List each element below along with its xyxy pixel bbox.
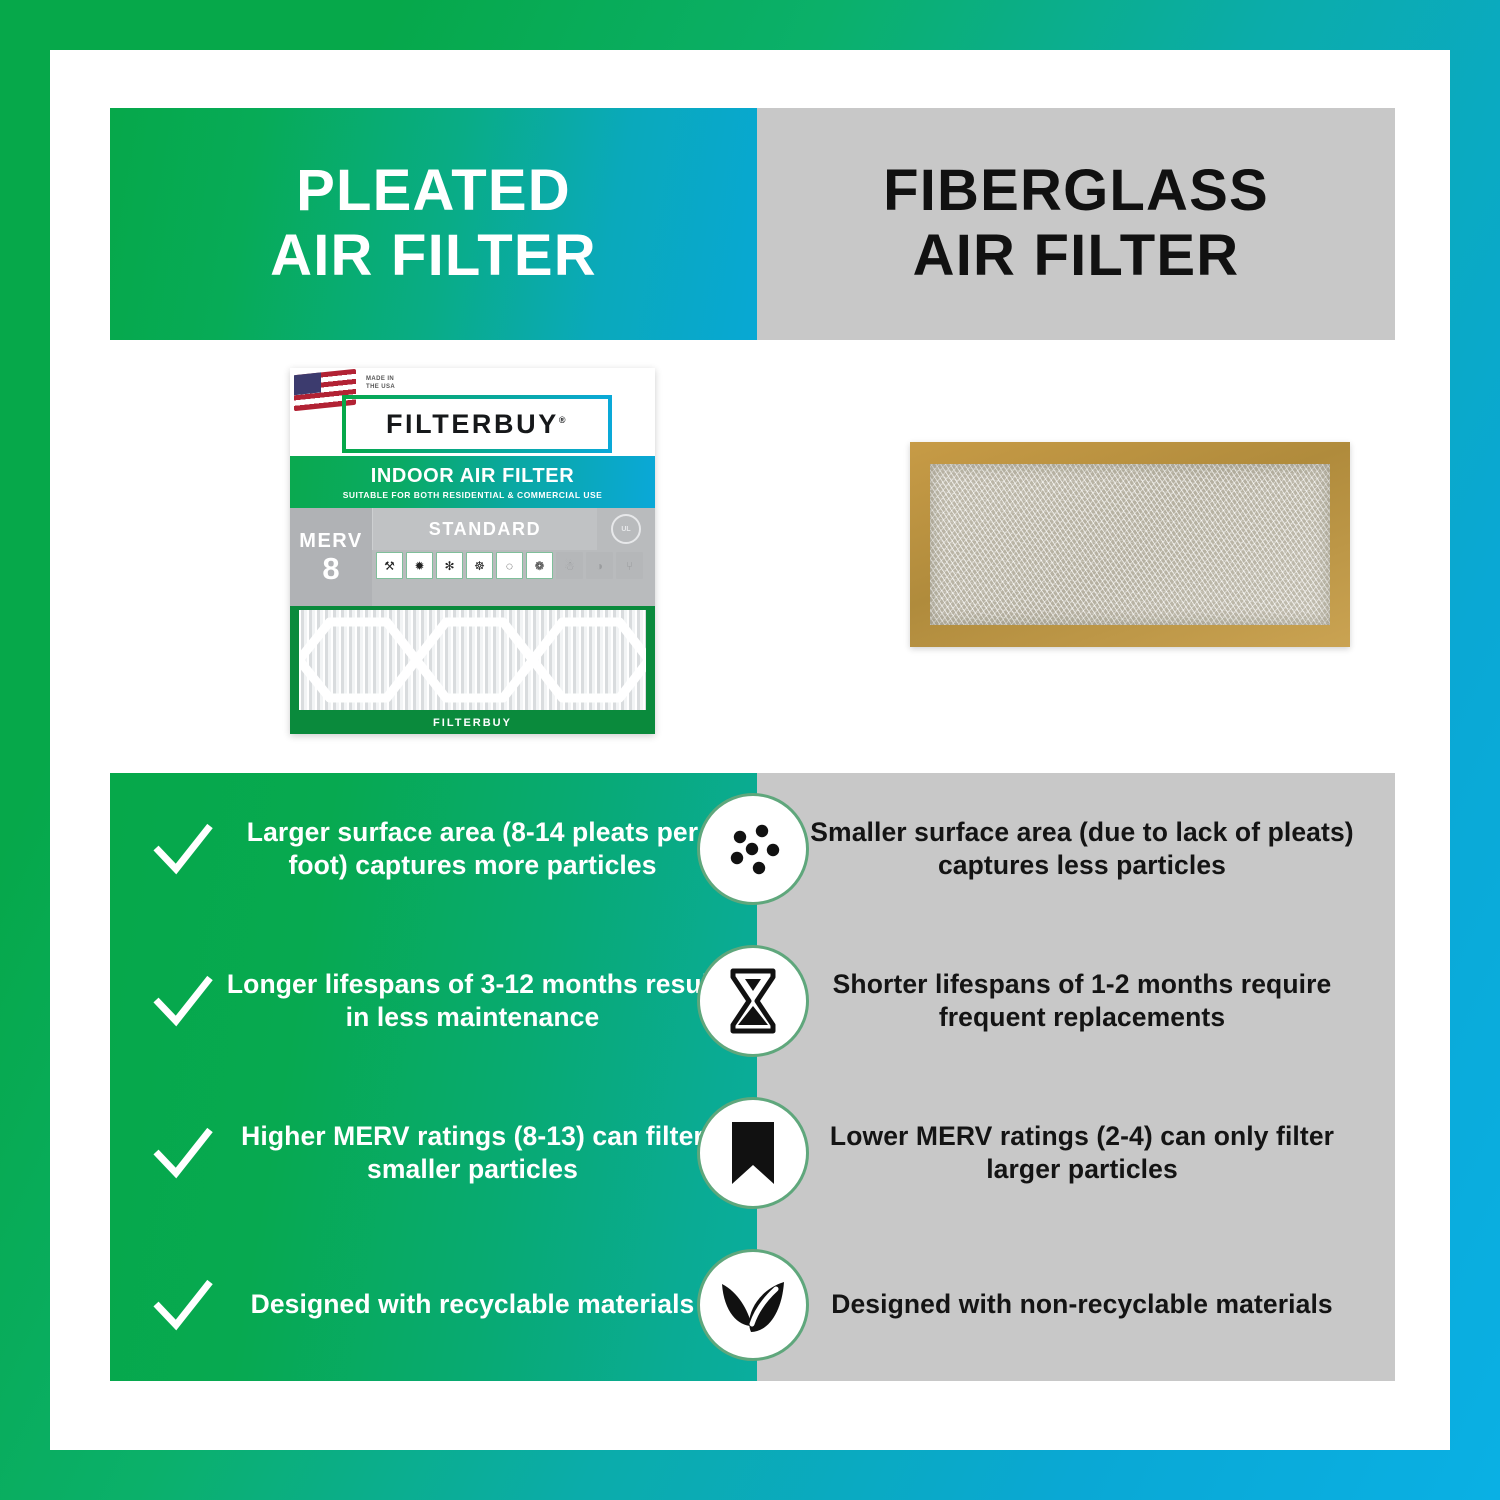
band-title: INDOOR AIR FILTER xyxy=(371,465,575,488)
comparison-row: Higher MERV ratings (8-13) can filter sm… xyxy=(110,1077,757,1229)
check-icon xyxy=(144,821,222,877)
capability-icon-disabled: ☃ xyxy=(556,552,583,579)
filterbuy-footer-brand: FILTERBUY xyxy=(290,712,655,734)
pleated-media-window: FILTERBUY xyxy=(290,606,655,734)
header-fiberglass: FIBERGLASS AIR FILTER xyxy=(757,108,1395,340)
check-icon xyxy=(144,1125,222,1181)
header-fiberglass-line2: AIR FILTER xyxy=(913,223,1240,288)
infographic-frame: PLEATED AIR FILTER FIBERGLASS AIR FILTER… xyxy=(0,0,1500,1500)
capability-icon-disabled: ⑂ xyxy=(616,552,643,579)
filterbuy-spec-panel: MERV 8 STANDARD UL ⚒ ✹ ✻ ☸ ◌ ❁ ☃ xyxy=(290,508,655,606)
comparison-text-fiberglass: Lower MERV ratings (2-4) can only filter… xyxy=(809,1120,1355,1187)
made-in-usa-label: MADE IN THE USA xyxy=(366,375,395,391)
capability-icon: ☸ xyxy=(466,552,493,579)
filter-capability-icons: ⚒ ✹ ✻ ☸ ◌ ❁ ☃ ◑ ⑂ xyxy=(376,552,651,604)
header-fiberglass-line1: FIBERGLASS xyxy=(883,158,1269,223)
comparison-text-fiberglass: Designed with non-recyclable materials xyxy=(831,1288,1333,1321)
comparison-row: Larger surface area (8-14 pleats per foo… xyxy=(110,773,757,925)
filterbuy-wordmark: FILTERBUY® xyxy=(386,409,568,440)
capability-icon: ◌ xyxy=(496,552,523,579)
comparison-text-pleated: Longer lifespans of 3-12 months result i… xyxy=(222,968,723,1035)
comparison-text-pleated: Designed with recyclable materials xyxy=(222,1288,723,1321)
ul-label: UL xyxy=(611,514,641,544)
pleated-filter-product-image: MADE IN THE USA FILTERBUY® INDOOR AIR FI… xyxy=(290,368,655,734)
ul-certification-mark: UL xyxy=(597,508,655,550)
header-pleated-line2: AIR FILTER xyxy=(270,223,597,288)
filterbuy-logo: FILTERBUY® xyxy=(342,395,612,453)
merv-badge: MERV 8 xyxy=(290,508,372,606)
check-icon xyxy=(144,973,222,1029)
comparison-row: Longer lifespans of 3-12 months result i… xyxy=(110,925,757,1077)
comparison-text-pleated: Higher MERV ratings (8-13) can filter sm… xyxy=(222,1120,723,1187)
comparison-text-pleated: Larger surface area (8-14 pleats per foo… xyxy=(222,816,723,883)
comparison-row: Shorter lifespans of 1-2 months require … xyxy=(757,925,1395,1077)
comparison-row: Designed with recyclable materials xyxy=(110,1229,757,1381)
header-row: PLEATED AIR FILTER FIBERGLASS AIR FILTER xyxy=(110,108,1395,340)
comparison-column-pleated: Larger surface area (8-14 pleats per foo… xyxy=(110,773,757,1381)
comparison-row: Lower MERV ratings (2-4) can only filter… xyxy=(757,1077,1395,1229)
capability-icon: ⚒ xyxy=(376,552,403,579)
comparison-text-fiberglass: Smaller surface area (due to lack of ple… xyxy=(809,816,1355,883)
capability-icon: ✹ xyxy=(406,552,433,579)
header-pleated-line1: PLEATED xyxy=(296,158,571,223)
comparison-section: Larger surface area (8-14 pleats per foo… xyxy=(110,773,1395,1381)
fiberglass-filter-product-image xyxy=(910,442,1350,647)
capability-icon: ❁ xyxy=(526,552,553,579)
comparison-text-fiberglass: Shorter lifespans of 1-2 months require … xyxy=(809,968,1355,1035)
comparison-row: Smaller surface area (due to lack of ple… xyxy=(757,773,1395,925)
comparison-column-fiberglass: Smaller surface area (due to lack of ple… xyxy=(757,773,1395,1381)
band-subtitle: SUITABLE FOR BOTH RESIDENTIAL & COMMERCI… xyxy=(343,490,603,500)
merv-label: MERV xyxy=(299,530,362,553)
check-icon xyxy=(144,1277,222,1333)
product-image-row: MADE IN THE USA FILTERBUY® INDOOR AIR FI… xyxy=(110,350,1395,770)
grade-label: STANDARD xyxy=(372,508,597,550)
infographic-canvas: PLEATED AIR FILTER FIBERGLASS AIR FILTER… xyxy=(50,50,1450,1450)
comparison-row: Designed with non-recyclable materials xyxy=(757,1229,1395,1381)
header-pleated: PLEATED AIR FILTER xyxy=(110,108,757,340)
capability-icon-disabled: ◑ xyxy=(586,552,613,579)
fiberglass-media xyxy=(930,464,1330,625)
filterbuy-box-top: MADE IN THE USA FILTERBUY® xyxy=(290,368,655,456)
indoor-air-filter-band: INDOOR AIR FILTER SUITABLE FOR BOTH RESI… xyxy=(290,456,655,508)
capability-icon: ✻ xyxy=(436,552,463,579)
merv-value: 8 xyxy=(322,553,339,584)
pleat-support-lattice xyxy=(299,610,646,710)
